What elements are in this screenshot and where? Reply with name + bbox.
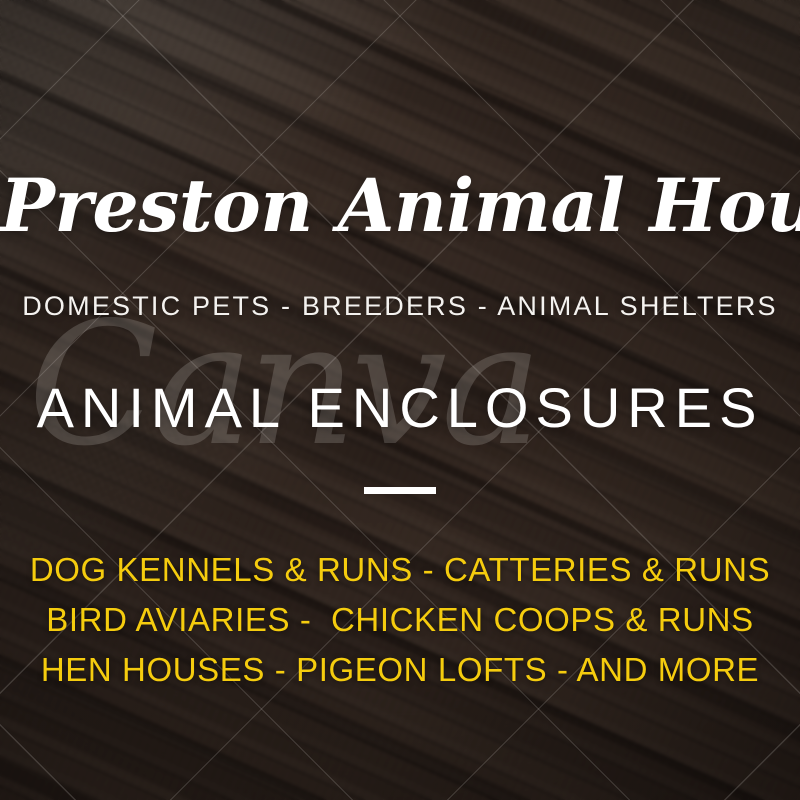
service-line: HEN HOUSES - PIGEON LOFTS - AND MORE: [0, 645, 800, 695]
promotional-poster: Canva Preston Animal Housing DOMESTIC PE…: [0, 0, 800, 800]
poster-heading: ANIMAL ENCLOSURES: [0, 380, 800, 436]
poster-subtitle: DOMESTIC PETS - BREEDERS - ANIMAL SHELTE…: [0, 293, 800, 320]
poster-content: Preston Animal Housing DOMESTIC PETS - B…: [0, 0, 800, 800]
service-line: BIRD AVIARIES - CHICKEN COOPS & RUNS: [0, 595, 800, 645]
service-line: DOG KENNELS & RUNS - CATTERIES & RUNS: [0, 545, 800, 595]
poster-title: Preston Animal Housing: [0, 168, 800, 245]
services-list: DOG KENNELS & RUNS - CATTERIES & RUNS BI…: [0, 545, 800, 695]
heading-divider: [364, 487, 436, 494]
